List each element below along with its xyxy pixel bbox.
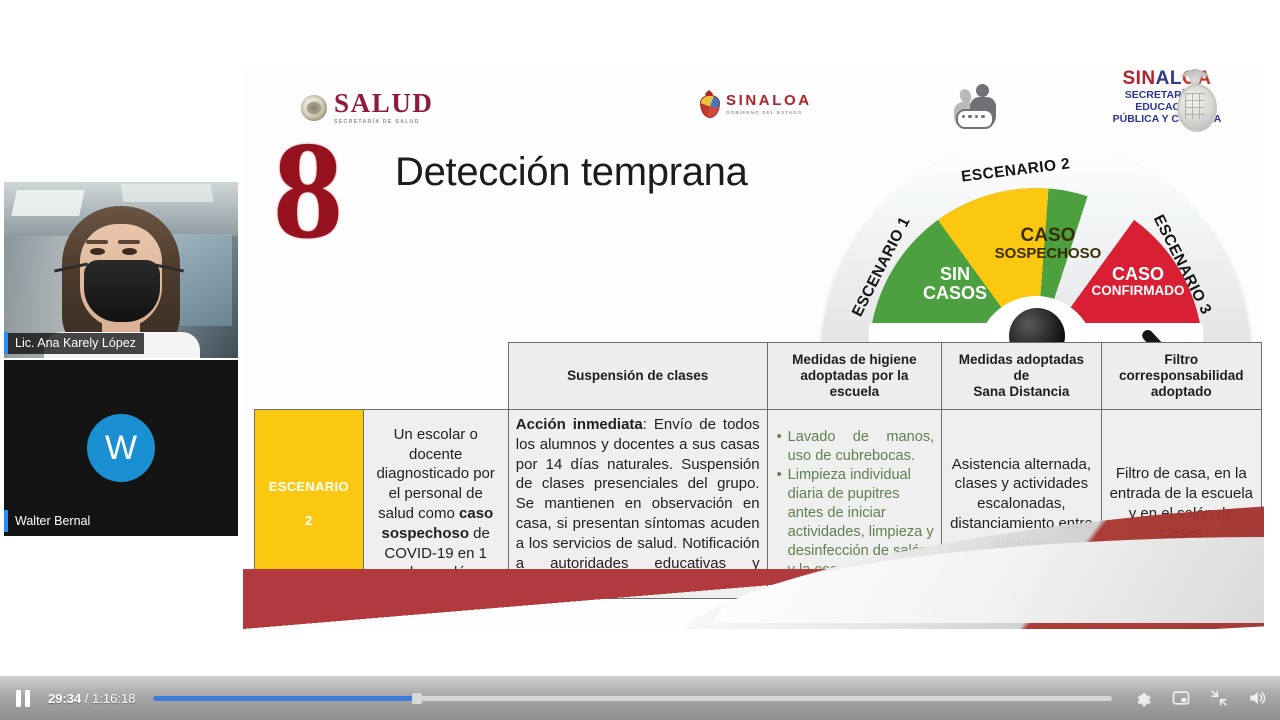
current-time: 29:34: [48, 691, 81, 706]
sepyc-logo-name: SINALOA: [1092, 69, 1242, 88]
slide-canvas: SALUD SECRETARÍA DE SALUD SINALOA GOBIER…: [243, 66, 1264, 651]
duration: 1:16:18: [92, 691, 135, 706]
sinaloa-shield-icon: [698, 90, 720, 118]
table-header-suspension: Suspensión de clases: [508, 343, 767, 410]
table-header-sana-distancia: Medidas adoptadas de Sana Distancia: [942, 343, 1101, 410]
gauge-label-sin-casos: SIN CASOS: [907, 265, 1003, 303]
slide-number: 8: [273, 136, 339, 245]
picture-in-picture-icon: [1171, 688, 1191, 708]
progress-fill: [153, 696, 417, 701]
settings-button[interactable]: [1130, 685, 1156, 711]
gauge-label-caso-sospechoso: CASO SOSPECHOSO: [988, 226, 1108, 262]
shared-screen-slide: SALUD SECRETARÍA DE SALUD SINALOA GOBIER…: [243, 66, 1264, 651]
sepyc-logo: SINALOA SECRETARÍA DE EDUCACIÓN PÚBLICA …: [1092, 68, 1242, 125]
sinaloa-logo-name: SINALOA: [726, 93, 812, 108]
scenario-gauge: SIN CASOS CASO SOSPECHOSO CASO CONFIRMAD…: [821, 140, 1251, 345]
player-control-bar: 29:34 / 1:16:18: [0, 676, 1280, 720]
table-header-row: Suspensión de clases Medidas de higiene …: [255, 343, 1262, 410]
sinaloa-logo-subtitle: GOBIERNO DEL ESTADO: [726, 111, 812, 116]
progress-bar[interactable]: [153, 696, 1112, 701]
picture-in-picture-button[interactable]: [1168, 685, 1194, 711]
participant-name-bar: Lic. Ana Karely López: [4, 332, 144, 354]
gear-icon: [1133, 688, 1153, 708]
salud-logo-name: SALUD: [334, 90, 434, 117]
volume-button[interactable]: [1244, 685, 1270, 711]
participant-tile-2[interactable]: W Walter Bernal: [4, 360, 238, 536]
gauge-outer-label-1: ESCENARIO 1: [849, 214, 915, 320]
table-header-filtro: Filtro corresponsabilidad adoptado: [1101, 343, 1261, 410]
hygiene-bullet: Lavado de manos, uso de cubrebocas.: [788, 428, 935, 466]
exit-fullscreen-icon: [1209, 688, 1229, 708]
sinaloa-logo: SINALOA GOBIERNO DEL ESTADO: [698, 90, 812, 118]
sepyc-logo-subtitle: SECRETARÍA DE EDUCACIÓN PÚBLICA Y CULTUR…: [1092, 90, 1242, 125]
page-title: Detección temprana: [395, 150, 748, 195]
time-separator: /: [81, 691, 92, 706]
pause-button[interactable]: [10, 685, 36, 711]
participant-name: Walter Bernal: [8, 511, 98, 532]
pause-icon: [16, 690, 30, 707]
video-player-stage: SALUD SECRETARÍA DE SALUD SINALOA GOBIER…: [0, 0, 1280, 720]
salud-logo-subtitle: SECRETARÍA DE SALUD: [334, 120, 434, 125]
participant-name: Lic. Ana Karely López: [8, 333, 144, 354]
table-header-spacer-1: [255, 343, 364, 410]
table-header-spacer-2: [363, 343, 508, 410]
avatar: W: [87, 414, 155, 482]
participant-name-bar: Walter Bernal: [4, 510, 98, 532]
time-display: 29:34 / 1:16:18: [48, 691, 135, 706]
gauge-outer-label-2: ESCENARIO 2: [960, 155, 1071, 186]
people-conversation-icon: [948, 82, 1006, 134]
participant-tile-1[interactable]: Lic. Ana Karely López: [4, 182, 238, 358]
volume-icon: [1246, 688, 1268, 708]
progress-handle[interactable]: [412, 693, 422, 704]
exit-fullscreen-button[interactable]: [1206, 685, 1232, 711]
table-header-higiene: Medidas de higiene adoptadas por la escu…: [767, 343, 942, 410]
